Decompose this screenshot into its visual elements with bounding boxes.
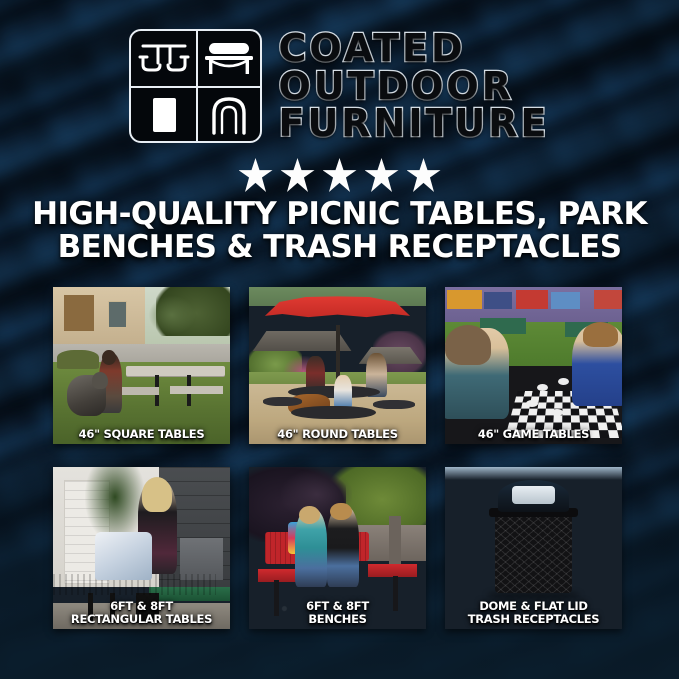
product-caption: 6FT & 8FT RECTANGULAR TABLES <box>53 600 230 625</box>
star-icon <box>323 158 357 192</box>
caption-line: 6FT & 8FT <box>252 600 423 612</box>
star-icon <box>365 158 399 192</box>
headline: HIGH-QUALITY PICNIC TABLES, PARK BENCHES… <box>30 198 649 264</box>
headline-line-1: HIGH-QUALITY PICNIC TABLES, PARK <box>30 198 649 231</box>
brand-logo: COATED OUTDOOR FURNITURE <box>0 26 679 146</box>
product-tile-benches[interactable]: 6FT & 8FT BENCHES <box>249 467 426 629</box>
caption-line: BENCHES <box>252 613 423 625</box>
product-grid: 46" SQUARE TABLES <box>53 287 623 629</box>
product-tile-round-tables[interactable]: 46" ROUND TABLES <box>249 287 426 444</box>
product-caption: 6FT & 8FT BENCHES <box>249 600 426 625</box>
logo-line-2: OUTDOOR <box>278 68 549 104</box>
star-icon <box>281 158 315 192</box>
product-caption: 46" ROUND TABLES <box>249 428 426 440</box>
caption-line: DOME & FLAT LID <box>448 600 619 612</box>
product-caption: 46" SQUARE TABLES <box>53 428 230 440</box>
advertisement-banner: COATED OUTDOOR FURNITURE HIGH-QUALITY PI… <box>0 0 679 679</box>
headline-line-2: BENCHES & TRASH RECEPTACLES <box>30 231 649 264</box>
logo-icon-grid <box>129 29 262 143</box>
logo-wordmark: COATED OUTDOOR FURNITURE <box>278 30 549 141</box>
logo-line-1: COATED <box>278 30 549 66</box>
product-tile-rectangular-tables[interactable]: 6FT & 8FT RECTANGULAR TABLES <box>53 467 230 629</box>
bike-rack-icon <box>196 86 261 141</box>
caption-line: 46" SQUARE TABLES <box>56 428 227 440</box>
caption-line: 46" ROUND TABLES <box>252 428 423 440</box>
product-tile-game-tables[interactable]: 46" GAME TABLES <box>445 287 622 444</box>
caption-line: TRASH RECEPTACLES <box>448 613 619 625</box>
product-tile-trash-receptacles[interactable]: DOME & FLAT LID TRASH RECEPTACLES <box>445 467 622 629</box>
product-caption: 46" GAME TABLES <box>445 428 622 440</box>
star-icon <box>239 158 273 192</box>
product-tile-square-tables[interactable]: 46" SQUARE TABLES <box>53 287 230 444</box>
product-photo-square-tables <box>53 287 230 444</box>
picnic-table-icon <box>131 31 196 86</box>
caption-line: 46" GAME TABLES <box>448 428 619 440</box>
trash-receptacle-icon <box>131 86 196 141</box>
caption-line: 6FT & 8FT <box>56 600 227 612</box>
product-caption: DOME & FLAT LID TRASH RECEPTACLES <box>445 600 622 625</box>
product-photo-round-tables <box>249 287 426 444</box>
logo-line-3: FURNITURE <box>278 105 549 141</box>
park-bench-icon <box>196 31 261 86</box>
star-rating <box>0 158 679 192</box>
star-icon <box>407 158 441 192</box>
caption-line: RECTANGULAR TABLES <box>56 613 227 625</box>
product-photo-game-tables <box>445 287 622 444</box>
